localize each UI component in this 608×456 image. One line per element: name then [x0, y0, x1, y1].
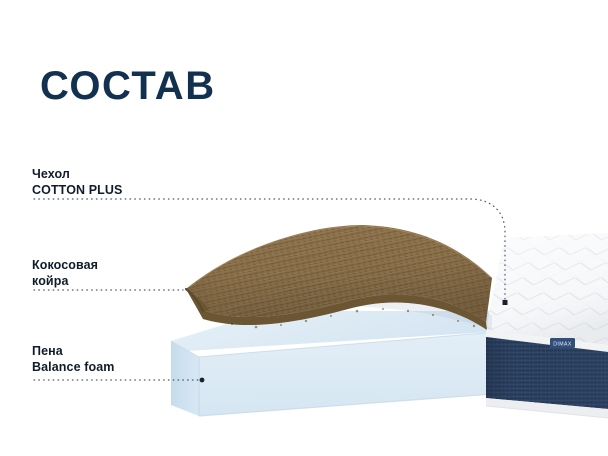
callout-cover-line2: COTTON PLUS: [32, 182, 122, 198]
callout-foam-line2: Balance foam: [32, 359, 114, 375]
callout-coir: Кокосовая койра: [32, 257, 98, 289]
brand-tag: DIMAX: [550, 338, 575, 348]
callout-coir-line1: Кокосовая: [32, 258, 98, 272]
callout-foam-line1: Пена: [32, 344, 63, 358]
callout-cover: Чехол COTTON PLUS: [32, 166, 122, 198]
callout-cover-line1: Чехол: [32, 167, 70, 181]
infographic-canvas: DIMAX: [0, 0, 608, 456]
brand-tag-label: DIMAX: [553, 341, 572, 347]
balance-foam-base: [171, 311, 520, 416]
page-title: СОСТАВ: [40, 66, 216, 106]
callout-coir-line2: койра: [32, 273, 98, 289]
mattress-cover: [486, 233, 608, 352]
callout-foam: Пена Balance foam: [32, 343, 114, 375]
